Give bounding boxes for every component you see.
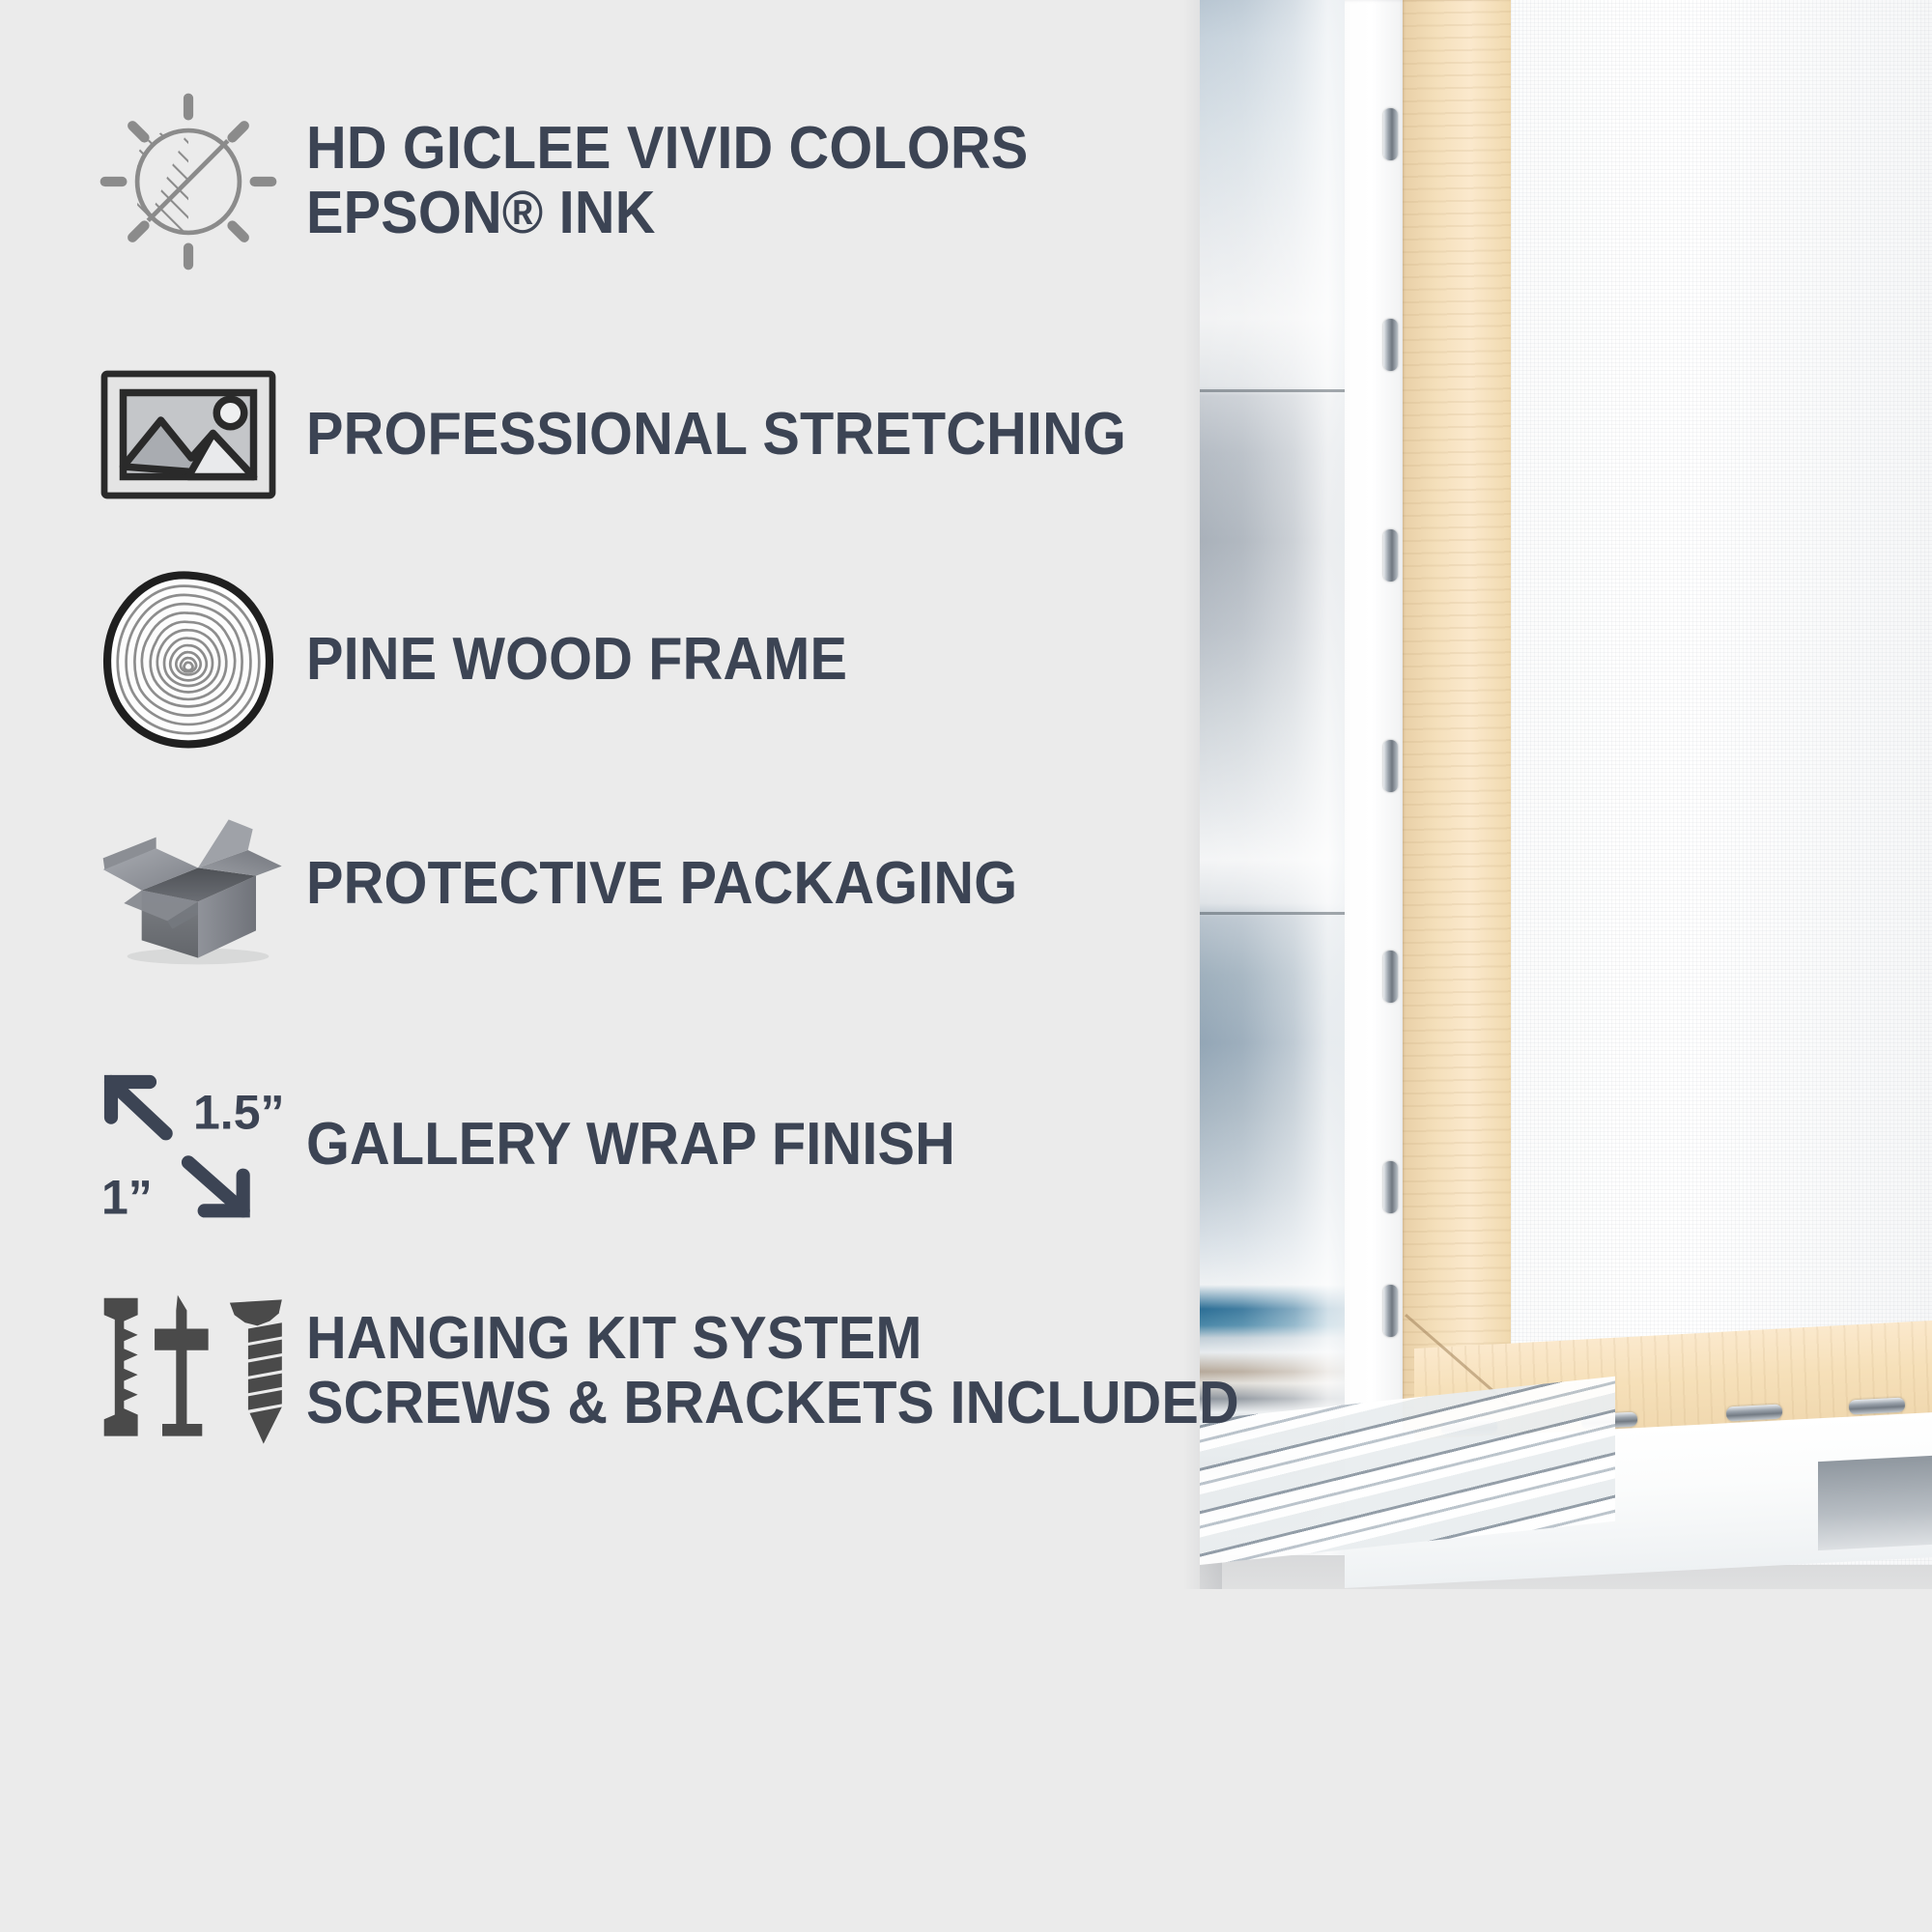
feature-row-gallery-wrap-finish: 1.5” 1” GALLERY WRAP FINISH [92,1063,1005,1227]
staple [1383,951,1398,1003]
staple [1383,529,1398,582]
feature-label-protective-packaging: PROTECTIVE PACKAGING [306,852,1017,917]
sun-print-icon [92,87,285,276]
depth-small-label: 1” [101,1171,153,1225]
feature-label-line: PINE WOOD FRAME [306,628,847,693]
canvas-fold-crease [1200,912,1352,915]
feature-row-professional-stretching: PROFESSIONAL STRETCHING [92,362,1188,507]
pine-stretcher-bar-vertical [1403,0,1511,1430]
canvas-underside-shadow [1818,1456,1932,1550]
staple [1383,108,1398,160]
feature-row-pine-wood-frame: PINE WOOD FRAME [92,570,888,750]
feature-label-line: PROTECTIVE PACKAGING [306,852,1017,917]
tree-rings-icon [92,570,285,750]
staple [1726,1404,1783,1421]
feature-list: HD GICLEE VIVID COLORS EPSON® INK PROFES… [0,0,1217,1932]
feature-row-hanging-kit: HANGING KIT SYSTEM SCREWS & BRACKETS INC… [92,1285,1310,1459]
feature-label-hanging-kit: HANGING KIT SYSTEM SCREWS & BRACKETS INC… [306,1307,1239,1436]
feature-label-line: EPSON® INK [306,182,1028,246]
open-box-icon [92,802,285,966]
canvas-fold-crease [1200,389,1352,392]
feature-row-hd-giclee: HD GICLEE VIVID COLORS EPSON® INK [92,87,1083,276]
staple [1383,319,1398,371]
canvas-corner-photo [1200,0,1932,1623]
feature-label-hd-giclee: HD GICLEE VIVID COLORS EPSON® INK [306,117,1028,246]
photo-bottom-background [1183,1589,1932,1932]
feature-row-protective-packaging: PROTECTIVE PACKAGING [92,802,1071,966]
depth-large-label: 1.5” [193,1085,285,1139]
staple [1383,1285,1398,1337]
feature-label-line: HANGING KIT SYSTEM [306,1307,1239,1372]
staple [1383,1161,1398,1213]
feature-label-line: GALLERY WRAP FINISH [306,1113,955,1178]
infographic-canvas: HD GICLEE VIVID COLORS EPSON® INK PROFES… [0,0,1932,1932]
feature-label-gallery-wrap-finish: GALLERY WRAP FINISH [306,1113,955,1178]
staple [1849,1397,1906,1414]
depth-arrows-icon: 1.5” 1” [92,1063,285,1227]
feature-label-line: SCREWS & BRACKETS INCLUDED [306,1372,1239,1436]
feature-label-line: HD GICLEE VIVID COLORS [306,117,1028,182]
hardware-icon [92,1285,285,1459]
framed-picture-icon [92,362,285,507]
feature-label-line: PROFESSIONAL STRETCHING [306,403,1126,468]
staple [1383,740,1398,792]
feature-label-pine-wood-frame: PINE WOOD FRAME [306,628,847,693]
feature-label-professional-stretching: PROFESSIONAL STRETCHING [306,403,1126,468]
